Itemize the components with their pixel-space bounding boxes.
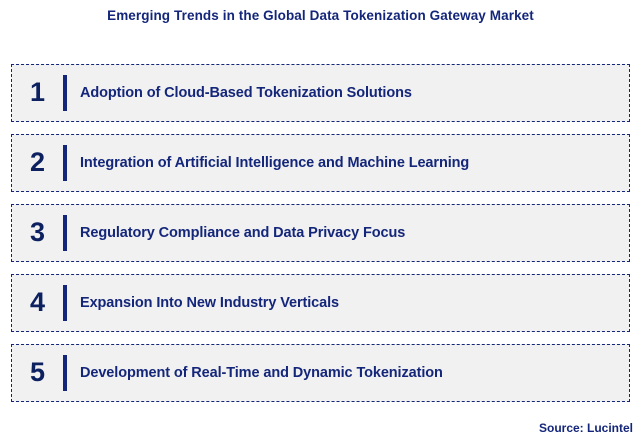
- trend-rank-number: 2: [12, 149, 63, 178]
- trend-rank-number: 5: [12, 359, 63, 388]
- trend-row: 4 Expansion Into New Industry Verticals: [11, 274, 630, 332]
- page-title: Emerging Trends in the Global Data Token…: [0, 8, 641, 23]
- trend-row: 5 Development of Real-Time and Dynamic T…: [11, 344, 630, 402]
- trend-rank-number: 4: [12, 289, 63, 318]
- trend-row: 2 Integration of Artificial Intelligence…: [11, 134, 630, 192]
- trend-rank-number: 3: [12, 219, 63, 248]
- trend-label: Development of Real-Time and Dynamic Tok…: [67, 365, 443, 381]
- trend-label: Integration of Artificial Intelligence a…: [67, 155, 469, 171]
- infographic-container: Emerging Trends in the Global Data Token…: [0, 0, 641, 446]
- trend-row: 1 Adoption of Cloud-Based Tokenization S…: [11, 64, 630, 122]
- trend-label: Expansion Into New Industry Verticals: [67, 295, 339, 311]
- trend-label: Regulatory Compliance and Data Privacy F…: [67, 225, 405, 241]
- source-attribution: Source: Lucintel: [539, 421, 633, 435]
- trend-label: Adoption of Cloud-Based Tokenization Sol…: [67, 85, 412, 101]
- trend-list: 1 Adoption of Cloud-Based Tokenization S…: [11, 64, 630, 402]
- trend-rank-number: 1: [12, 79, 63, 108]
- trend-row: 3 Regulatory Compliance and Data Privacy…: [11, 204, 630, 262]
